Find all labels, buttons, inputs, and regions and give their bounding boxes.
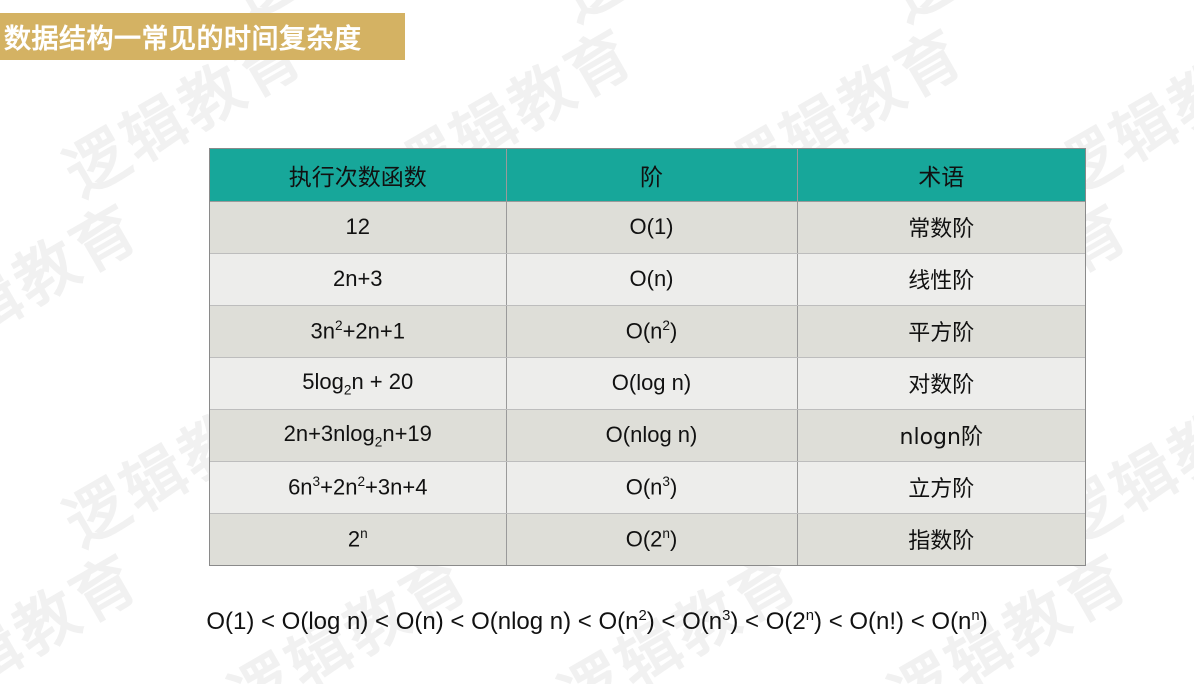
cell-order: O(2n) bbox=[506, 513, 797, 565]
watermark-text: 逻辑教育 bbox=[870, 0, 1144, 38]
page-title: 数据结构一常见的时间复杂度 bbox=[0, 17, 362, 56]
cell-term: 指数阶 bbox=[797, 513, 1085, 565]
table-row: 5log2n + 20O(log n)对数阶 bbox=[210, 357, 1085, 409]
cell-term: nlogn阶 bbox=[797, 409, 1085, 461]
cell-order: O(1) bbox=[506, 201, 797, 253]
time-complexity-table: 执行次数函数 阶 术语 12O(1)常数阶2n+3O(n)线性阶3n2+2n+1… bbox=[209, 148, 1086, 566]
cell-function: 3n2+2n+1 bbox=[210, 305, 506, 357]
cell-function: 2n+3 bbox=[210, 253, 506, 305]
table-header-row: 执行次数函数 阶 术语 bbox=[210, 149, 1085, 201]
cell-order: O(n3) bbox=[506, 461, 797, 513]
table-row: 2n+3O(n)线性阶 bbox=[210, 253, 1085, 305]
table-row: 2nO(2n)指数阶 bbox=[210, 513, 1085, 565]
complexity-ordering-formula: O(1) < O(log n) < O(n) < O(nlog n) < O(n… bbox=[0, 608, 1194, 636]
column-header-term: 术语 bbox=[797, 149, 1085, 201]
cell-term: 立方阶 bbox=[797, 461, 1085, 513]
cell-term: 平方阶 bbox=[797, 305, 1085, 357]
watermark-text: 逻辑教育 bbox=[0, 178, 154, 388]
cell-order: O(nlog n) bbox=[506, 409, 797, 461]
table-row: 2n+3nlog2n+19O(nlog n)nlogn阶 bbox=[210, 409, 1085, 461]
table-row: 6n3+2n2+3n+4O(n3)立方阶 bbox=[210, 461, 1085, 513]
table-row: 12O(1)常数阶 bbox=[210, 201, 1085, 253]
watermark-text: 逻辑教育 bbox=[0, 528, 154, 684]
cell-term: 对数阶 bbox=[797, 357, 1085, 409]
cell-function: 2n+3nlog2n+19 bbox=[210, 409, 506, 461]
cell-function: 2n bbox=[210, 513, 506, 565]
cell-term: 线性阶 bbox=[797, 253, 1085, 305]
column-header-order: 阶 bbox=[506, 149, 797, 201]
watermark-text: 逻辑教育 bbox=[540, 0, 814, 38]
cell-order: O(log n) bbox=[506, 357, 797, 409]
table-body: 12O(1)常数阶2n+3O(n)线性阶3n2+2n+1O(n2)平方阶5log… bbox=[210, 201, 1085, 565]
slide-title-banner: 数据结构一常见的时间复杂度 bbox=[0, 13, 405, 60]
table-row: 3n2+2n+1O(n2)平方阶 bbox=[210, 305, 1085, 357]
cell-order: O(n2) bbox=[506, 305, 797, 357]
cell-function: 6n3+2n2+3n+4 bbox=[210, 461, 506, 513]
cell-order: O(n) bbox=[506, 253, 797, 305]
cell-term: 常数阶 bbox=[797, 201, 1085, 253]
cell-function: 5log2n + 20 bbox=[210, 357, 506, 409]
cell-function: 12 bbox=[210, 201, 506, 253]
column-header-function: 执行次数函数 bbox=[210, 149, 506, 201]
